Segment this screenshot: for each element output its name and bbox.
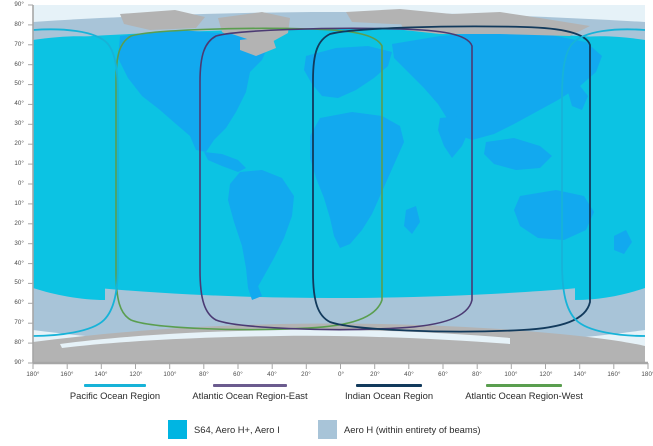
world-map-svg [0, 0, 653, 370]
y-tick-label-13: 40° [2, 260, 24, 267]
coverage-map-figure: 90° 80° 70° 60° 50° 40° 30° 20° 10° 0° 1… [0, 0, 653, 446]
y-tick-label-8: 10° [2, 160, 24, 167]
legend-swatch-atlantic-ocean-region-west [486, 384, 562, 387]
y-tick-label-15: 60° [2, 299, 24, 306]
legend-label-pacific-ocean-region: Pacific Ocean Region [55, 390, 175, 401]
coverage-lobe-west [33, 36, 105, 300]
legend-fills: S64, Aero H+, Aero I Aero H (within enti… [0, 416, 653, 446]
y-tick-label-4: 50° [2, 80, 24, 87]
x-tick-label-10: 20° [360, 371, 390, 378]
y-tick-label-1: 80° [2, 21, 24, 28]
x-tick-label-3: 120° [121, 371, 151, 378]
y-tick-label-3: 60° [2, 61, 24, 68]
x-tick-label-16: 140° [565, 371, 595, 378]
legend-swatch-s64-aero-hplus-aero-i [168, 420, 187, 439]
legend-item-atlantic-ocean-region-east[interactable]: Atlantic Ocean Region-East [179, 384, 321, 401]
legend-swatch-pacific-ocean-region [84, 384, 146, 387]
x-tick-label-8: 20° [291, 371, 321, 378]
x-tick-label-1: 160° [52, 371, 82, 378]
legend-swatch-atlantic-ocean-region-east [213, 384, 287, 387]
x-tick-label-15: 120° [531, 371, 561, 378]
legend-item-indian-ocean-region[interactable]: Indian Ocean Region [331, 384, 447, 401]
y-tick-label-17: 80° [2, 339, 24, 346]
y-tick-label-16: 70° [2, 319, 24, 326]
y-tick-label-6: 30° [2, 120, 24, 127]
x-tick-label-4: 100° [155, 371, 185, 378]
y-tick-label-14: 50° [2, 279, 24, 286]
y-tick-label-0: 90° [2, 1, 24, 8]
x-axis-label-row: 180° 160° 140° 120° 100° 80° 60° 40° 20°… [0, 371, 653, 383]
x-tick-label-18: 180° [633, 371, 653, 378]
x-tick-label-9: 0° [326, 371, 356, 378]
x-tick-label-2: 140° [86, 371, 116, 378]
legend-label-indian-ocean-region: Indian Ocean Region [331, 390, 447, 401]
x-tick-label-7: 40° [257, 371, 287, 378]
legend-regions: Pacific Ocean Region Atlantic Ocean Regi… [0, 384, 653, 410]
antarctic-base-band [33, 352, 645, 363]
x-tick-label-5: 80° [189, 371, 219, 378]
x-tick-label-6: 60° [223, 371, 253, 378]
y-tick-label-12: 30° [2, 240, 24, 247]
x-tick-label-11: 40° [394, 371, 424, 378]
legend-swatch-aero-h [318, 420, 337, 439]
legend-label-atlantic-ocean-region-west: Atlantic Ocean Region-West [451, 390, 597, 401]
x-tick-label-14: 100° [496, 371, 526, 378]
y-tick-label-10: 10° [2, 200, 24, 207]
map-canvas: 90° 80° 70° 60° 50° 40° 30° 20° 10° 0° 1… [0, 0, 653, 370]
x-tick-label-13: 80° [462, 371, 492, 378]
legend-item-s64-aero-hplus-aero-i[interactable]: S64, Aero H+, Aero I [168, 420, 280, 439]
y-tick-label-2: 70° [2, 41, 24, 48]
y-tick-label-5: 40° [2, 100, 24, 107]
y-tick-label-11: 20° [2, 220, 24, 227]
legend-item-atlantic-ocean-region-west[interactable]: Atlantic Ocean Region-West [451, 384, 597, 401]
legend-item-pacific-ocean-region[interactable]: Pacific Ocean Region [55, 384, 175, 401]
legend-swatch-indian-ocean-region [356, 384, 422, 387]
legend-label-s64-aero-hplus-aero-i: S64, Aero H+, Aero I [194, 424, 280, 435]
x-tick-label-17: 160° [599, 371, 629, 378]
x-tick-label-12: 60° [428, 371, 458, 378]
y-tick-label-7: 20° [2, 140, 24, 147]
y-tick-label-9: 0° [2, 180, 24, 187]
legend-label-aero-h: Aero H (within entirety of beams) [344, 424, 481, 435]
legend-label-atlantic-ocean-region-east: Atlantic Ocean Region-East [179, 390, 321, 401]
legend-item-aero-h[interactable]: Aero H (within entirety of beams) [318, 420, 481, 439]
x-tick-label-0: 180° [18, 371, 48, 378]
y-tick-label-18: 90° [2, 359, 24, 366]
